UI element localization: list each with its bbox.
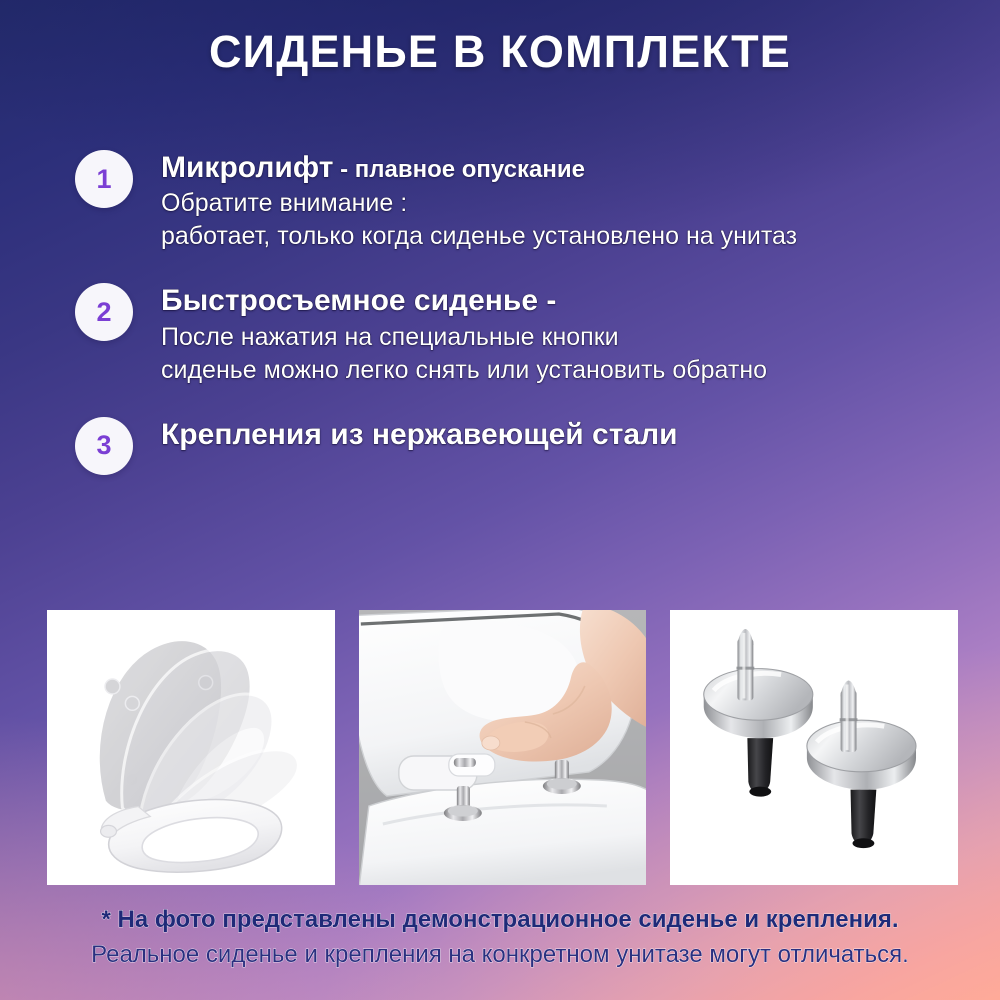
feature-subline-2-1: После нажатия на специальные кнопки bbox=[161, 321, 767, 354]
feature-heading-tail-1: - плавное опускание bbox=[333, 156, 585, 183]
feature-heading-main-3: Крепления из нержавеющей стали bbox=[161, 418, 678, 451]
feature-heading-1: Микролифт - плавное опускание bbox=[161, 150, 797, 185]
promo-poster: СИДЕНЬЕ В КОМПЛЕКТЕ 1 Микролифт - плавно… bbox=[0, 0, 1000, 1000]
footer-line-2: Реальное сиденье и крепления на конкретн… bbox=[0, 938, 1000, 973]
feature-number-badge-3: 3 bbox=[75, 417, 133, 475]
feature-heading-3: Крепления из нержавеющей стали bbox=[161, 417, 678, 452]
photo-quick-release-hand bbox=[359, 610, 647, 885]
feature-heading-main-2: Быстросъемное сиденье - bbox=[161, 284, 556, 317]
photo-strip bbox=[47, 610, 958, 885]
quick-release-hand-illustration bbox=[359, 610, 647, 885]
feature-item-1: 1 Микролифт - плавное опускание Обратите… bbox=[0, 148, 1000, 253]
feature-text-3: Крепления из нержавеющей стали bbox=[161, 415, 678, 452]
footer-disclaimer: * На фото представлены демонстрационное … bbox=[0, 903, 1000, 973]
photo-soft-close-seat bbox=[47, 610, 335, 885]
feature-text-2: Быстросъемное сиденье - После нажатия на… bbox=[161, 281, 767, 386]
feature-subline-1-1: Обратите внимание : bbox=[161, 187, 797, 220]
feature-item-2: 2 Быстросъемное сиденье - После нажатия … bbox=[0, 281, 1000, 386]
feature-subline-2-2: сиденье можно легко снять или установить… bbox=[161, 354, 767, 387]
feature-item-3: 3 Крепления из нержавеющей стали bbox=[0, 415, 1000, 475]
feature-list: 1 Микролифт - плавное опускание Обратите… bbox=[0, 148, 1000, 503]
page-title: СИДЕНЬЕ В КОМПЛЕКТЕ bbox=[0, 26, 1000, 78]
feature-number-badge-1: 1 bbox=[75, 150, 133, 208]
feature-heading-main-1: Микролифт bbox=[161, 151, 333, 184]
feature-number-badge-2: 2 bbox=[75, 283, 133, 341]
feature-subline-1-2: работает, только когда сиденье установле… bbox=[161, 220, 797, 253]
footer-line-1: * На фото представлены демонстрационное … bbox=[0, 903, 1000, 938]
toilet-seat-softclose-illustration bbox=[47, 610, 335, 885]
feature-heading-2: Быстросъемное сиденье - bbox=[161, 283, 767, 318]
photo-stainless-fixings bbox=[670, 610, 958, 885]
feature-text-1: Микролифт - плавное опускание Обратите в… bbox=[161, 148, 797, 253]
stainless-steel-fixings-illustration bbox=[670, 610, 958, 885]
